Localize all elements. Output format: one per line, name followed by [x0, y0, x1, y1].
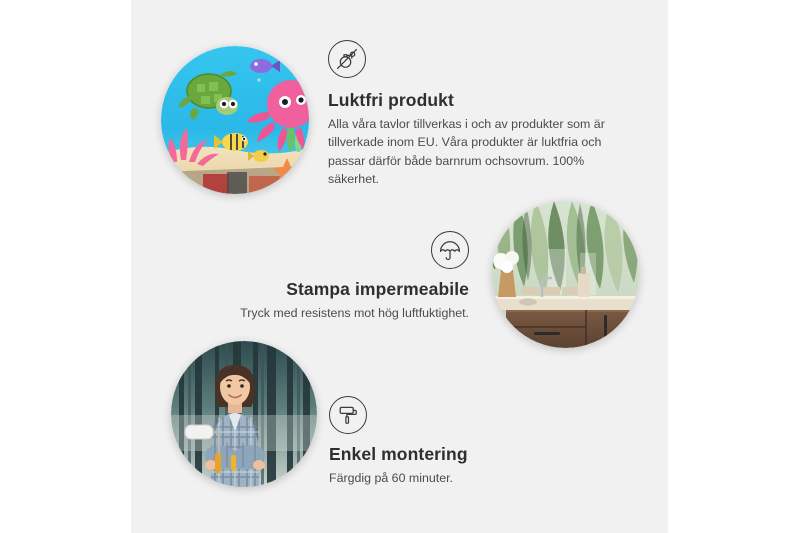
feature-easy-mounting: Enkel montering Färgdig på 60 minuter.: [329, 396, 589, 487]
feature-image-bathroom: [492, 201, 639, 348]
feature-body: Alla våra tavlor tillverkas i och av pro…: [328, 115, 623, 188]
feature-waterproof: Stampa impermeabile Tryck med resistens …: [209, 231, 469, 322]
bathroom-tropical-wallpaper-image: [492, 201, 639, 348]
feature-image-underwater: [161, 46, 309, 194]
umbrella-icon: [431, 231, 469, 269]
woman-painter-forest-wallpaper-image: [171, 341, 317, 487]
feature-title: Luktfri produkt: [328, 90, 623, 110]
page-root: Luktfri produkt Alla våra tavlor tillver…: [0, 0, 800, 533]
content-panel: Luktfri produkt Alla våra tavlor tillver…: [131, 0, 668, 533]
feature-title: Enkel montering: [329, 444, 589, 464]
underwater-cartoon-scene-image: [161, 46, 309, 194]
feature-image-painter: [171, 341, 317, 487]
paint-roller-icon: [329, 396, 367, 434]
no-spray-bottle-icon: [328, 40, 366, 78]
feature-body: Tryck med resistens mot hög luftfuktighe…: [209, 304, 469, 322]
feature-odour-free: Luktfri produkt Alla våra tavlor tillver…: [328, 40, 623, 188]
feature-title: Stampa impermeabile: [209, 279, 469, 299]
feature-body: Färgdig på 60 minuter.: [329, 469, 589, 487]
